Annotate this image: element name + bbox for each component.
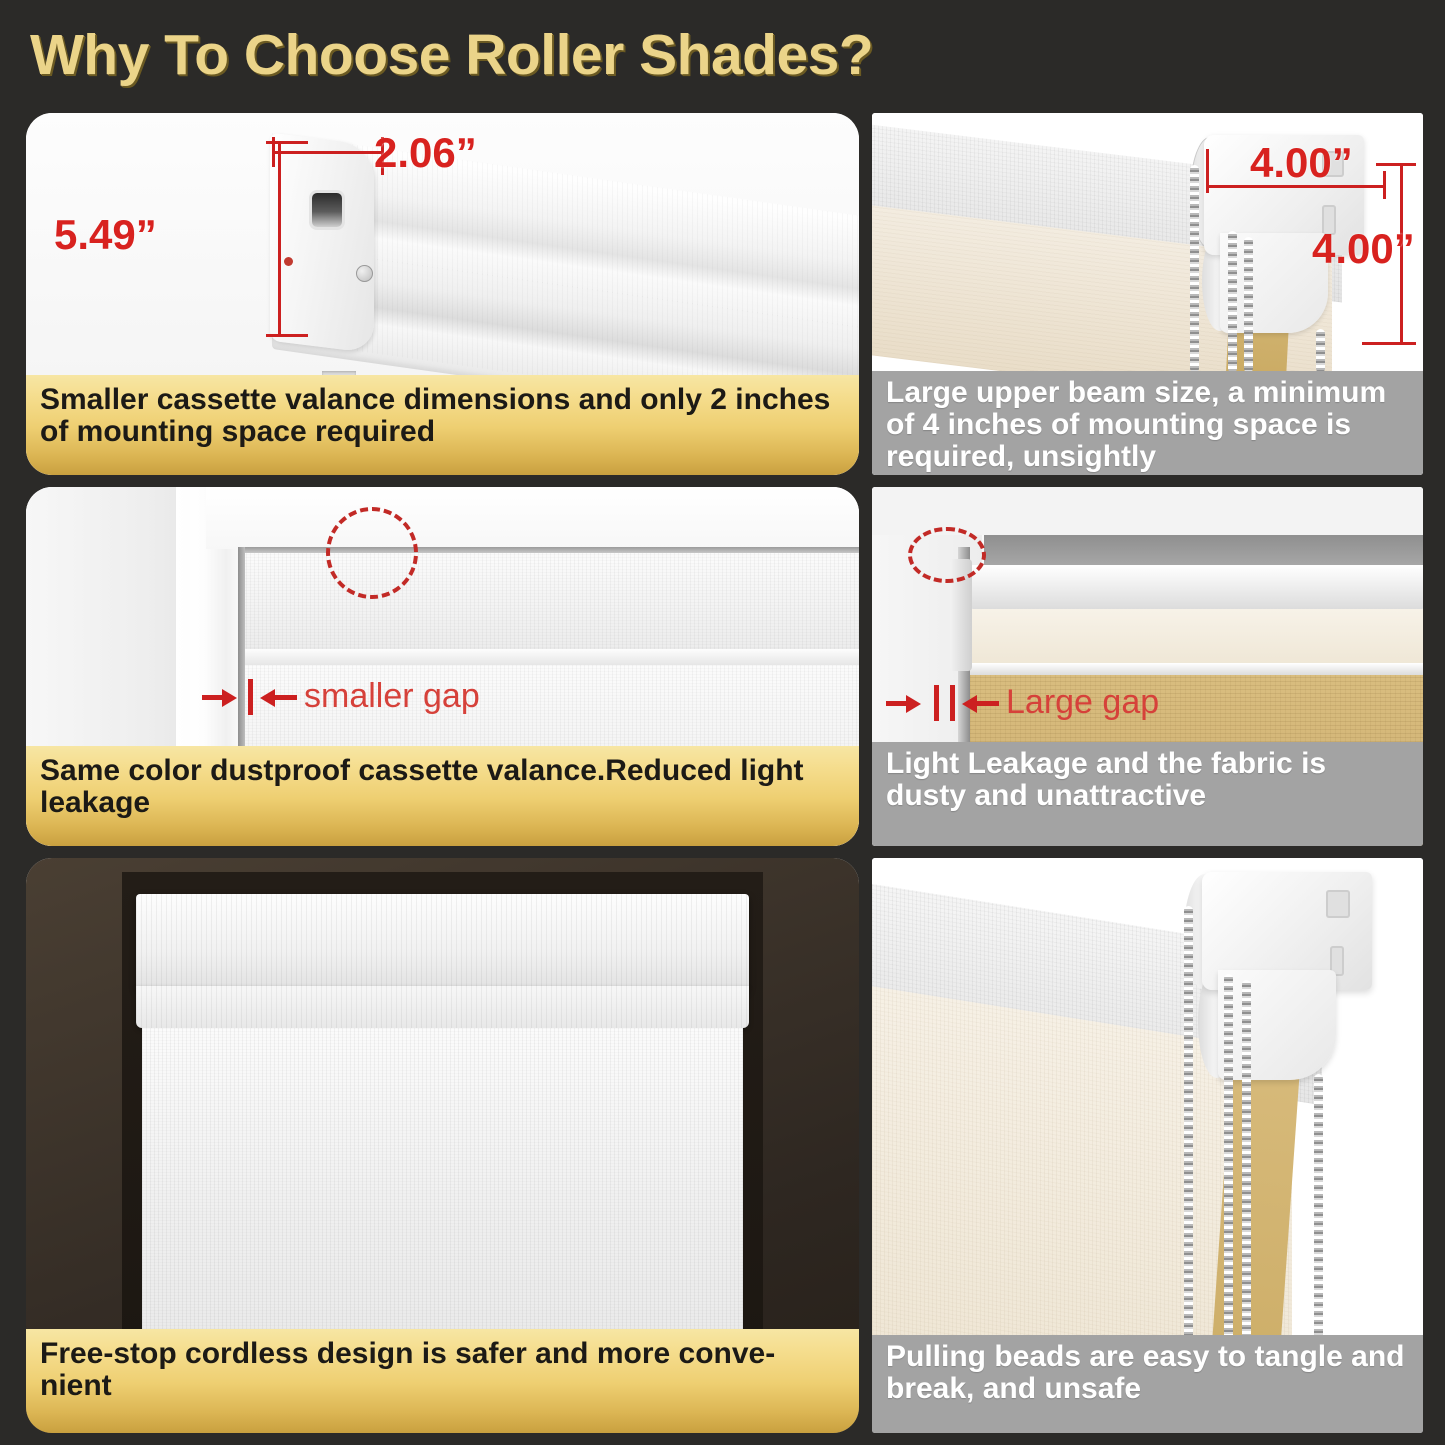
- valance-end-cap: [270, 133, 374, 354]
- caption-panel-3: Same color dustproof cassette valance.Re…: [26, 746, 859, 846]
- page-title: Why To Choose Roller Shades?: [30, 22, 1030, 88]
- panel-cassette-valance-dimensions: 2.06” 5.49” Smaller cassette valance dim…: [26, 113, 859, 475]
- beam-width-tick-right: [1383, 171, 1386, 199]
- height-tick-top: [266, 141, 308, 144]
- bead-chain-3: [1242, 980, 1251, 1374]
- photo-large-beam: 4.00” 4.00” Large upper beam size, a min…: [872, 113, 1423, 475]
- photo-cassette-valance: 2.06” 5.49” Smaller cassette valance dim…: [26, 113, 859, 475]
- gap-marker-bar-1: [934, 685, 939, 721]
- gap-arrow-right-head: [222, 689, 237, 707]
- gap-arrow-right-head: [906, 695, 921, 713]
- window-frame-header: [206, 487, 859, 549]
- height-dimension-line: [278, 141, 281, 337]
- caption-panel-5-line-1: Free-stop cordless design is safer and m…: [40, 1338, 845, 1370]
- panel-pulling-beads-tangle: Pulling beads are easy to tangle and bre…: [872, 858, 1423, 1433]
- gap-arrow-left-tail: [886, 701, 908, 706]
- panel-dustproof-cassette-valance: smaller gap Same color dustproof cassett…: [26, 487, 859, 846]
- photo-room-window-shade: Free-stop cordless design is safer and m…: [26, 858, 859, 1433]
- photo-window-frame-white-shade: smaller gap Same color dustproof cassett…: [26, 487, 859, 846]
- roller-tube: [972, 565, 1423, 613]
- caption-panel-5-line-2: nient: [40, 1370, 845, 1402]
- beam-width-tick-left: [1206, 149, 1209, 193]
- caption-panel-4: Light Leakage and the fabric is dusty an…: [872, 742, 1423, 846]
- bead-chain-3: [1244, 237, 1253, 373]
- gap-marker-bar-2: [950, 685, 955, 721]
- highlight-circle-icon: [326, 507, 418, 599]
- beam-height-tick-bottom: [1362, 342, 1416, 345]
- caption-panel-6: Pulling beads are easy to tangle and bre…: [872, 1335, 1423, 1433]
- shade-fabric: [142, 1028, 743, 1368]
- bracket-slot: [312, 193, 342, 227]
- bead-chain-1: [1190, 165, 1199, 373]
- gap-arrow-right-tail: [275, 695, 297, 700]
- cassette-front-lip: [136, 986, 749, 1028]
- photo-beaded-roller-shade: Pulling beads are easy to tangle and bre…: [872, 858, 1423, 1433]
- screw-icon: [356, 265, 373, 282]
- cassette-headbox: [136, 894, 749, 990]
- bead-chain-2: [1228, 231, 1237, 373]
- fabric-separator: [968, 663, 1423, 675]
- large-gap-label: Large gap: [1006, 683, 1159, 722]
- width-dimension-label: 2.06”: [374, 129, 477, 177]
- panel-large-upper-beam: 4.00” 4.00” Large upper beam size, a min…: [872, 113, 1423, 475]
- caption-panel-2: Large upper beam size, a minimum of 4 in…: [872, 371, 1423, 475]
- bead-chain-2: [1224, 974, 1233, 1374]
- beam-width-label: 4.00”: [1250, 139, 1353, 187]
- valance-mid-rail: [240, 649, 859, 665]
- gap-arrow-left-tail: [202, 695, 224, 700]
- panel-free-stop-cordless-design: Free-stop cordless design is safer and m…: [26, 858, 859, 1433]
- caption-panel-5: Free-stop cordless design is safer and m…: [26, 1329, 859, 1433]
- shadow-band: [984, 535, 1423, 569]
- beam-height-label: 4.00”: [1312, 225, 1415, 273]
- gap-arrow-right-tail: [977, 701, 999, 706]
- width-dimension-line: [272, 151, 384, 154]
- photo-tan-shade-gap: Large gap Light Leakage and the fabric i…: [872, 487, 1423, 846]
- smaller-gap-label: smaller gap: [304, 677, 480, 716]
- height-dimension-label: 5.49”: [54, 211, 157, 259]
- bracket-notch-a: [1326, 890, 1350, 918]
- height-tick-bottom: [266, 334, 308, 337]
- mounting-bracket-lower: [1218, 970, 1336, 1080]
- gap-arrow-left-head: [260, 689, 275, 707]
- bead-chain-4: [1314, 1074, 1323, 1374]
- bead-chain-1: [1184, 906, 1193, 1374]
- gap-arrow-left-head: [962, 695, 977, 713]
- infographic-page: Why To Choose Roller Shades? 2.06” 5.49”…: [0, 0, 1445, 1445]
- caption-panel-1: Smaller cassette valance dimensions and …: [26, 375, 859, 475]
- measure-point-dot: [284, 257, 293, 266]
- cream-fabric-band: [970, 609, 1423, 665]
- bead-chain-4: [1316, 329, 1325, 373]
- gap-marker-bar: [248, 679, 253, 715]
- beam-height-tick-top: [1376, 163, 1416, 166]
- panel-light-leakage-dusty-fabric: Large gap Light Leakage and the fabric i…: [872, 487, 1423, 846]
- highlight-circle-icon: [908, 527, 986, 583]
